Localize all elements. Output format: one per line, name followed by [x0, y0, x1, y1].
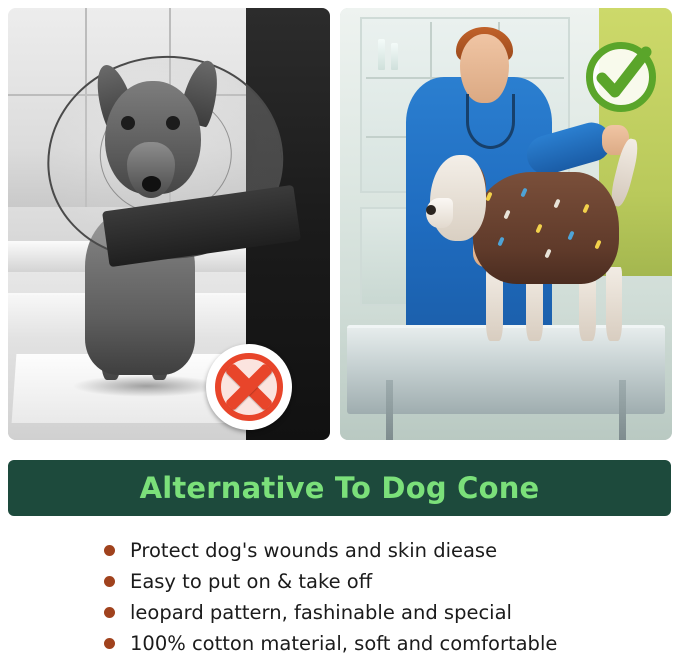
bullet-dot-icon	[104, 607, 115, 618]
list-item-label: 100% cotton material, soft and comfortab…	[130, 632, 557, 655]
photo-dog-with-recovery-suit	[340, 8, 672, 440]
list-item-label: leopard pattern, fashinable and special	[130, 601, 512, 624]
right-photo-dog-leg	[606, 267, 623, 340]
feature-list: Protect dog's wounds and skin diease Eas…	[104, 536, 664, 660]
headline-banner: Alternative To Dog Cone	[8, 460, 671, 516]
suit-pattern-dot	[521, 187, 528, 197]
list-item: leopard pattern, fashinable and special	[104, 598, 664, 627]
bullet-dot-icon	[104, 576, 115, 587]
right-photo-bottle	[378, 39, 385, 70]
page-title: Alternative To Dog Cone	[8, 460, 671, 516]
list-item-label: Protect dog's wounds and skin diease	[130, 539, 497, 562]
suit-pattern-dot	[503, 210, 510, 220]
green-check-icon	[582, 38, 660, 116]
suit-pattern-dot	[497, 237, 504, 247]
suit-pattern-dot	[582, 203, 589, 213]
right-photo-bottle	[391, 43, 398, 71]
list-item: Easy to put on & take off	[104, 567, 664, 596]
list-item: Protect dog's wounds and skin diease	[104, 536, 664, 565]
right-photo-table-leg	[386, 380, 393, 440]
product-infographic: Alternative To Dog Cone Protect dog's wo…	[0, 0, 679, 661]
right-photo-table-leg	[619, 380, 626, 440]
suit-pattern-dot	[486, 192, 493, 202]
list-item: 100% cotton material, soft and comfortab…	[104, 629, 664, 658]
suit-pattern-dot	[568, 230, 575, 240]
green-check-mark-icon	[582, 38, 660, 116]
right-photo-dog-nose	[426, 205, 436, 215]
suit-pattern-dot	[544, 248, 551, 258]
bullet-dot-icon	[104, 545, 115, 556]
suit-pattern-dot	[553, 199, 560, 209]
list-item-label: Easy to put on & take off	[130, 570, 372, 593]
suit-pattern-dot	[594, 239, 601, 249]
right-photo-vet-head	[460, 34, 510, 103]
suit-pattern-dot	[535, 223, 542, 233]
red-x-icon	[206, 344, 292, 430]
photo-comparison-row	[0, 0, 679, 448]
right-photo-dog-recovery-suit	[473, 172, 619, 284]
bullet-dot-icon	[104, 638, 115, 649]
